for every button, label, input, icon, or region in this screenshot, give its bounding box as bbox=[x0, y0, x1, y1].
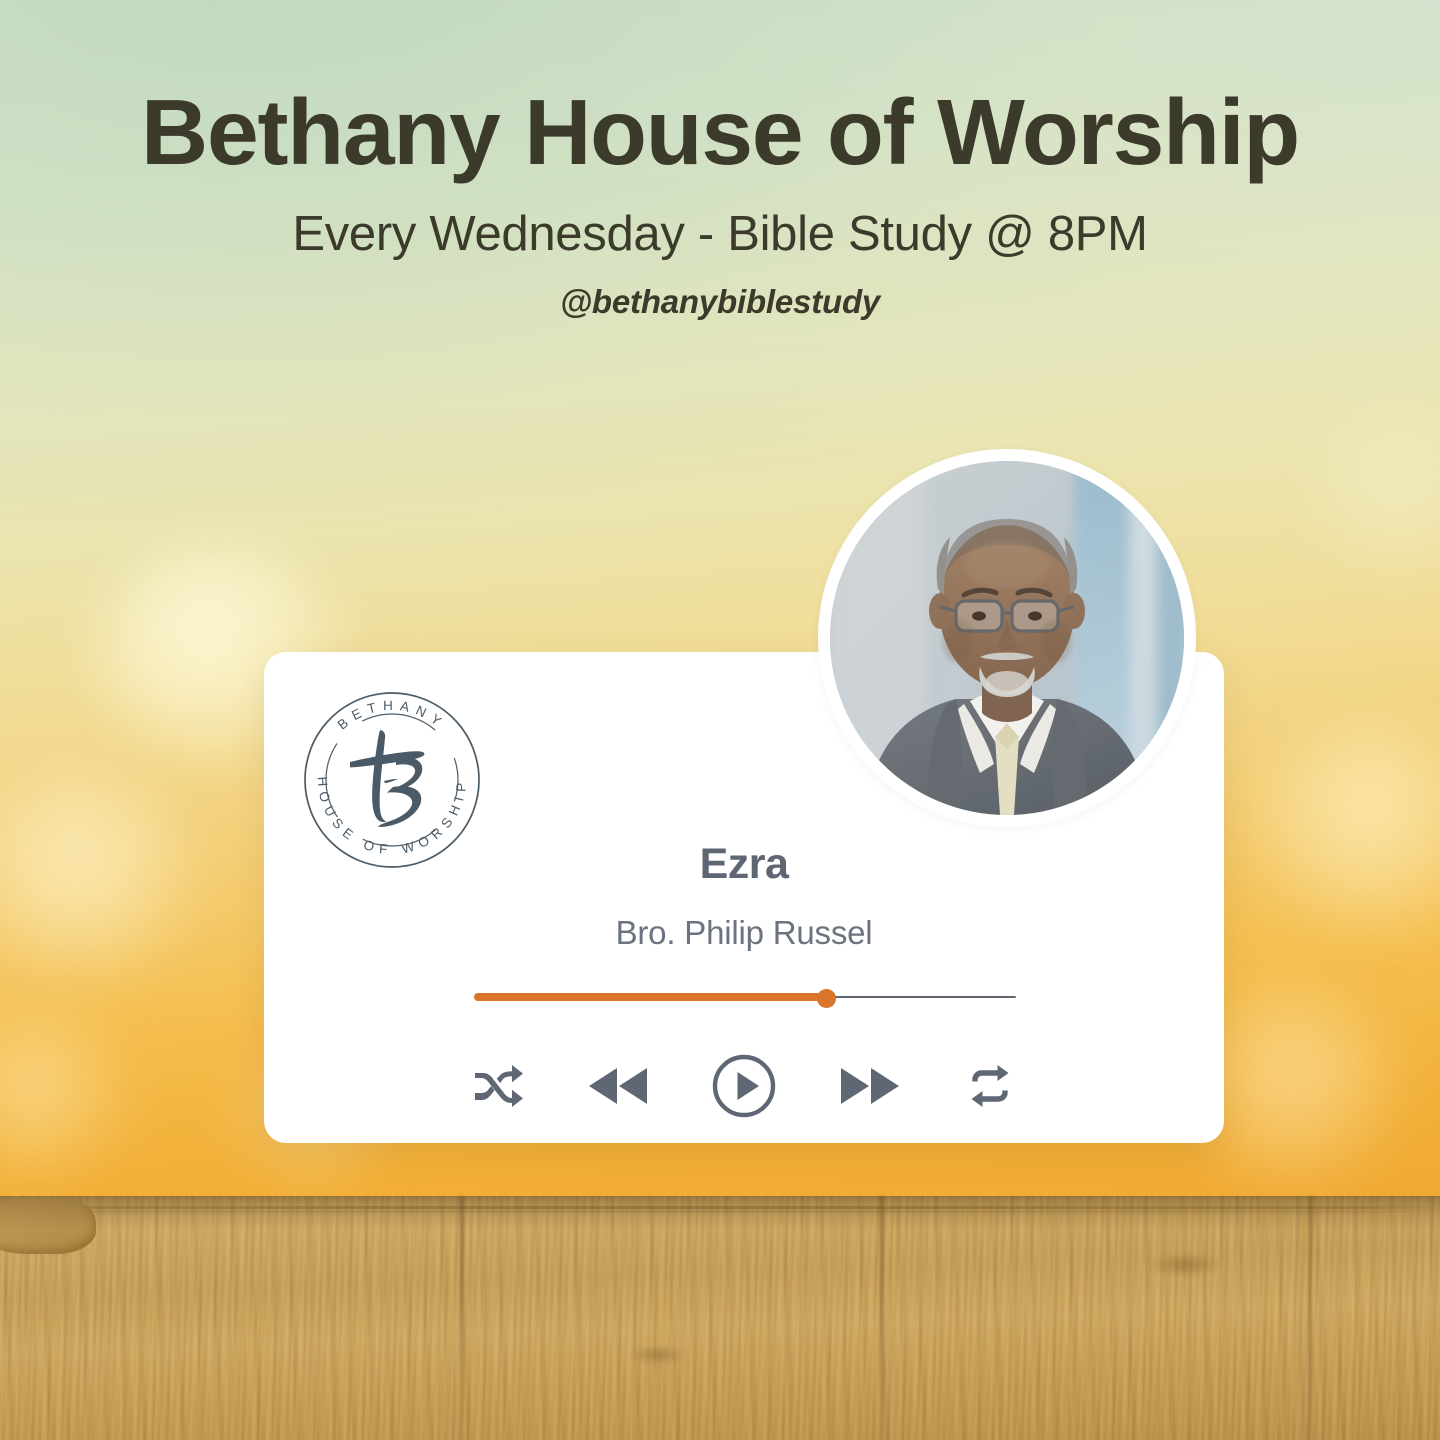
wooden-table-surface bbox=[0, 1196, 1440, 1440]
wood-knot bbox=[630, 1346, 684, 1364]
player-controls bbox=[264, 1050, 1224, 1122]
shuffle-button[interactable] bbox=[438, 1050, 558, 1122]
wood-plank-divider bbox=[1308, 1196, 1312, 1440]
track-info: Ezra Bro. Philip Russel bbox=[264, 840, 1224, 952]
logo-monogram bbox=[350, 730, 424, 827]
wood-grain-highlight bbox=[0, 1196, 1440, 1440]
track-title: Ezra bbox=[264, 840, 1224, 889]
track-artist: Bro. Philip Russel bbox=[264, 914, 1224, 952]
progress-bar[interactable] bbox=[474, 990, 1016, 1006]
wood-edge-shadow bbox=[0, 1196, 1440, 1230]
progress-fill bbox=[474, 993, 826, 1001]
rewind-button[interactable] bbox=[558, 1050, 678, 1122]
rewind-icon bbox=[586, 1064, 650, 1108]
wood-knot bbox=[1150, 1254, 1220, 1276]
social-handle: @bethanybiblestudy bbox=[0, 283, 1440, 321]
fast-forward-icon bbox=[838, 1064, 902, 1108]
progress-thumb[interactable] bbox=[817, 989, 836, 1008]
wood-plank-divider bbox=[880, 1196, 884, 1440]
poster-heading-block: Bethany House of Worship Every Wednesday… bbox=[0, 84, 1440, 321]
audio-player-card: BETHANY HOUSE OF WORSHIP bbox=[264, 652, 1224, 1143]
avatar bbox=[818, 449, 1196, 827]
fast-forward-button[interactable] bbox=[810, 1050, 930, 1122]
page-subtitle: Every Wednesday - Bible Study @ 8PM bbox=[0, 206, 1440, 262]
repeat-button[interactable] bbox=[930, 1050, 1050, 1122]
play-icon bbox=[711, 1053, 777, 1119]
play-button[interactable] bbox=[678, 1050, 810, 1122]
page-title: Bethany House of Worship bbox=[0, 84, 1440, 182]
poster-canvas: Bethany House of Worship Every Wednesday… bbox=[0, 0, 1440, 1440]
wood-plank-divider bbox=[460, 1196, 464, 1440]
repeat-icon bbox=[963, 1064, 1017, 1108]
shuffle-icon bbox=[473, 1065, 523, 1107]
